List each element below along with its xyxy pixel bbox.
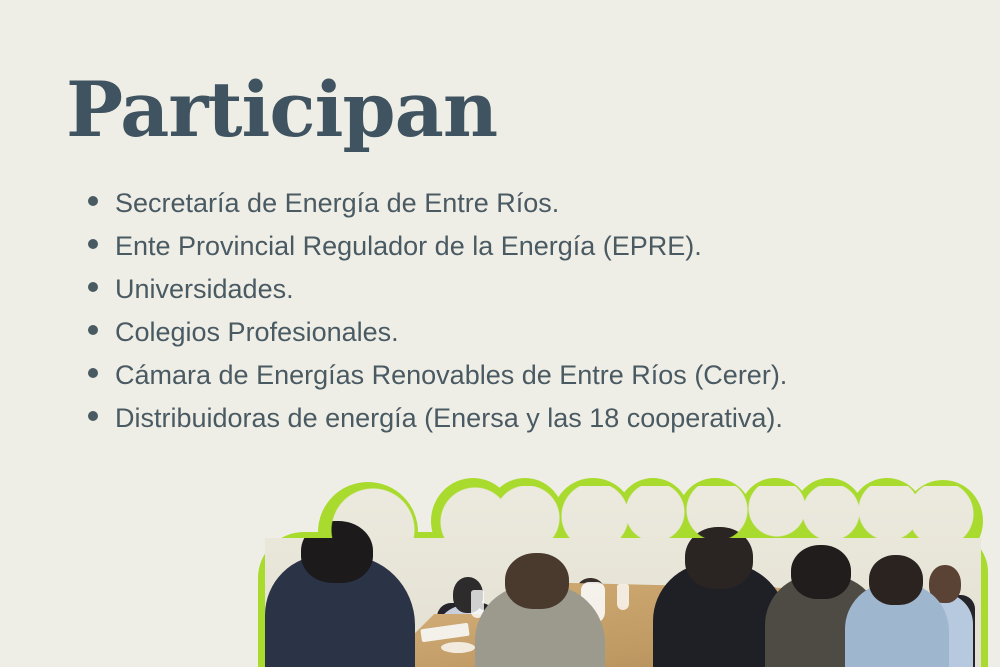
attendee-head xyxy=(505,553,569,609)
attendee-head xyxy=(685,527,753,589)
attendee-head xyxy=(869,555,923,605)
list-item: Secretaría de Energía de Entre Ríos. xyxy=(88,182,948,225)
meeting-room-photo-cutout xyxy=(258,478,988,667)
list-item-label: Colegios Profesionales. xyxy=(115,311,399,354)
attendee-head xyxy=(791,545,851,599)
list-item: Ente Provincial Regulador de la Energía … xyxy=(88,225,948,268)
participants-list: Secretaría de Energía de Entre Ríos. Ent… xyxy=(88,182,948,440)
attendee-head xyxy=(301,521,373,583)
list-item-label: Universidades. xyxy=(115,268,294,311)
meeting-scene xyxy=(265,486,981,667)
bullet-icon xyxy=(88,239,98,249)
list-item-label: Distribuidoras de energía (Enersa y las … xyxy=(115,397,783,440)
list-item: Universidades. xyxy=(88,268,948,311)
page-title: Participan xyxy=(66,72,497,148)
water-glass xyxy=(617,584,629,610)
bullet-icon xyxy=(88,196,98,206)
slide-root: Participan Secretaría de Energía de Entr… xyxy=(0,0,1000,667)
bullet-icon xyxy=(88,368,98,378)
photo-stage xyxy=(258,478,988,667)
attendee-foreground xyxy=(475,563,605,667)
list-item: Distribuidoras de energía (Enersa y las … xyxy=(88,397,948,440)
bullet-icon xyxy=(88,325,98,335)
list-item-label: Secretaría de Energía de Entre Ríos. xyxy=(115,182,559,225)
list-item: Colegios Profesionales. xyxy=(88,311,948,354)
cup-and-saucer xyxy=(441,642,475,653)
list-item-label: Cámara de Energías Renovables de Entre R… xyxy=(115,354,787,397)
bullet-icon xyxy=(88,411,98,421)
list-item: Cámara de Energías Renovables de Entre R… xyxy=(88,354,948,397)
attendee-foreground xyxy=(265,531,415,667)
bullet-icon xyxy=(88,282,98,292)
attendee-foreground xyxy=(845,559,949,667)
list-item-label: Ente Provincial Regulador de la Energía … xyxy=(115,225,702,268)
photo-image xyxy=(265,486,981,667)
